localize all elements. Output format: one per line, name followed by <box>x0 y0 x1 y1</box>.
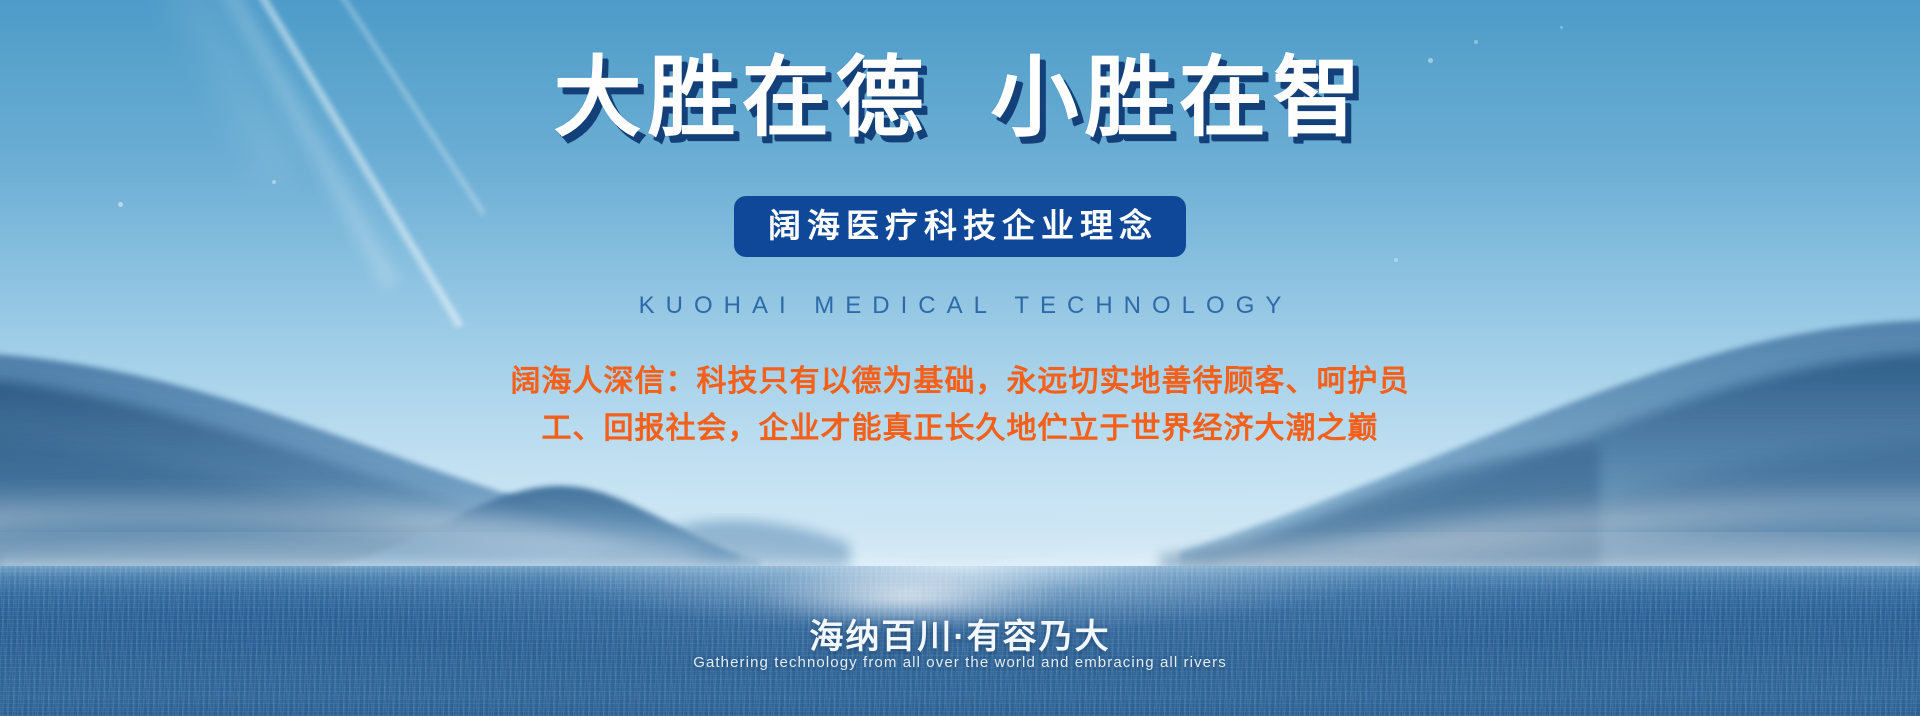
main-title: 大胜在德 小胜在智 <box>0 52 1920 144</box>
motto-chinese: 海纳百川·有容乃大 <box>0 609 1920 658</box>
philosophy-statement: 阔海人深信：科技只有以德为基础，永远切实地善待顾客、呵护员 工、回报社会，企业才… <box>420 358 1500 452</box>
english-subtitle: KUOHAI MEDICAL TECHNOLOGY <box>0 292 1920 320</box>
company-philosophy-badge: 阔海医疗科技企业理念 <box>734 196 1186 257</box>
banner-content: 大胜在德 小胜在智 阔海医疗科技企业理念 KUOHAI MEDICAL TECH… <box>0 0 1920 716</box>
motto-english: Gathering technology from all over the w… <box>0 654 1920 671</box>
statement-line-2: 工、回报社会，企业才能真正长久地伫立于世界经济大潮之巅 <box>420 405 1500 452</box>
kuohai-philosophy-banner: 大胜在德 小胜在智 阔海医疗科技企业理念 KUOHAI MEDICAL TECH… <box>0 0 1920 716</box>
statement-line-1: 阔海人深信：科技只有以德为基础，永远切实地善待顾客、呵护员 <box>420 358 1500 405</box>
